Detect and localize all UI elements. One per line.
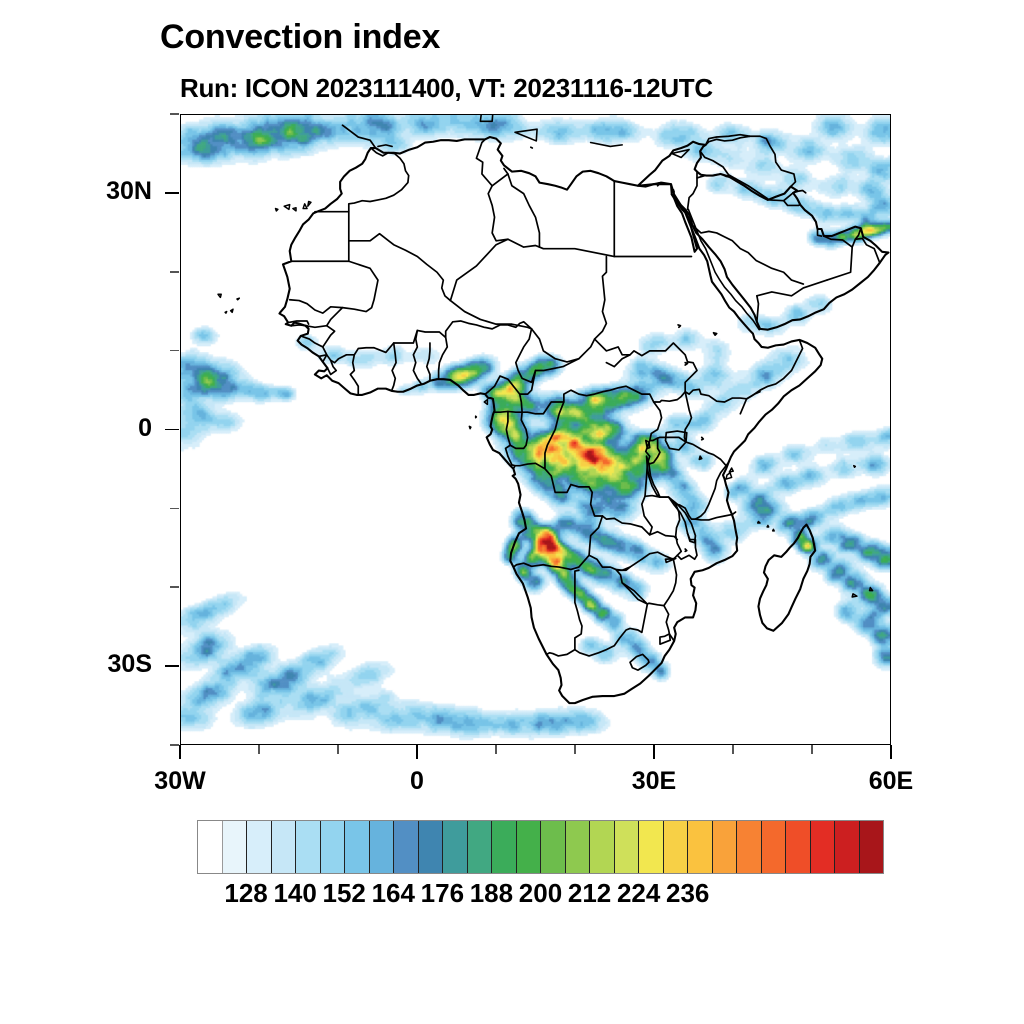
- colorbar-tick-label: 140: [273, 878, 316, 909]
- x-axis-minor-tick: [337, 745, 339, 754]
- colorbar-cell: [419, 821, 444, 873]
- colorbar-cell: [762, 821, 787, 873]
- y-axis-minor-tick: [170, 350, 179, 352]
- colorbar-cell: [664, 821, 689, 873]
- y-axis-tick: [165, 429, 179, 431]
- y-axis-minor-tick: [170, 744, 179, 746]
- colorbar-cell: [321, 821, 346, 873]
- colorbar-tick-label: 128: [224, 878, 267, 909]
- y-axis-minor-tick: [170, 586, 179, 588]
- colorbar-cell: [566, 821, 591, 873]
- x-axis-minor-tick: [258, 745, 260, 754]
- y-axis-minor-tick: [170, 113, 179, 115]
- x-axis-tick-label: 0: [347, 767, 487, 796]
- x-axis-minor-tick: [811, 745, 813, 754]
- colorbar-tick-label: 164: [372, 878, 415, 909]
- x-axis-minor-tick: [495, 745, 497, 754]
- colorbar-cell: [860, 821, 884, 873]
- colorbar-tick-label: 212: [568, 878, 611, 909]
- colorbar-tick-label: 176: [421, 878, 464, 909]
- colorbar-tick-label: 152: [323, 878, 366, 909]
- colorbar-cell: [492, 821, 517, 873]
- y-axis-tick-label: 30N: [40, 177, 152, 206]
- y-axis-tick-label: 30S: [40, 650, 152, 679]
- colorbar-cell: [370, 821, 395, 873]
- y-axis-tick: [165, 192, 179, 194]
- coastlines-and-borders-layer: [181, 115, 890, 744]
- colorbar-cell: [737, 821, 762, 873]
- y-axis-tick-label: 0: [40, 414, 152, 443]
- x-axis-tick-label: 60E: [821, 767, 961, 796]
- colorbar-tick-labels: 128140152164176188200212224236: [0, 878, 1024, 918]
- colorbar-cell: [688, 821, 713, 873]
- x-axis-tick: [890, 745, 892, 759]
- colorbar-cell: [811, 821, 836, 873]
- colorbar-cell: [223, 821, 248, 873]
- colorbar-cell: [296, 821, 321, 873]
- colorbar-cell: [443, 821, 468, 873]
- colorbar-cell: [517, 821, 542, 873]
- colorbar-cell: [541, 821, 566, 873]
- x-axis-tick: [653, 745, 655, 759]
- y-axis-minor-tick: [170, 271, 179, 273]
- colorbar-cell: [639, 821, 664, 873]
- colorbar-cell: [345, 821, 370, 873]
- colorbar-cell: [835, 821, 860, 873]
- colorbar-tick-label: 236: [666, 878, 709, 909]
- x-axis-tick: [179, 745, 181, 759]
- colorbar-cell: [394, 821, 419, 873]
- colorbar-tick-label: 200: [519, 878, 562, 909]
- page-title: Convection index: [160, 18, 440, 57]
- x-axis-tick-label: 30E: [584, 767, 724, 796]
- x-axis-tick: [416, 745, 418, 759]
- colorbar[interactable]: [197, 820, 884, 874]
- x-axis-tick-label: 30W: [110, 767, 250, 796]
- x-axis-minor-tick: [574, 745, 576, 754]
- colorbar-cell: [468, 821, 493, 873]
- colorbar-cell: [247, 821, 272, 873]
- colorbar-tick-label: 188: [470, 878, 513, 909]
- colorbar-cell: [786, 821, 811, 873]
- y-axis-tick: [165, 665, 179, 667]
- colorbar-cell: [272, 821, 297, 873]
- x-axis-minor-tick: [732, 745, 734, 754]
- map-plot-area[interactable]: [180, 114, 891, 745]
- colorbar-cell: [590, 821, 615, 873]
- y-axis-minor-tick: [170, 508, 179, 510]
- colorbar-cell: [615, 821, 640, 873]
- colorbar-tick-label: 224: [617, 878, 660, 909]
- colorbar-cell: [713, 821, 738, 873]
- run-valid-time-subtitle: Run: ICON 2023111400, VT: 20231116-12UTC: [180, 73, 713, 104]
- colorbar-cell: [198, 821, 223, 873]
